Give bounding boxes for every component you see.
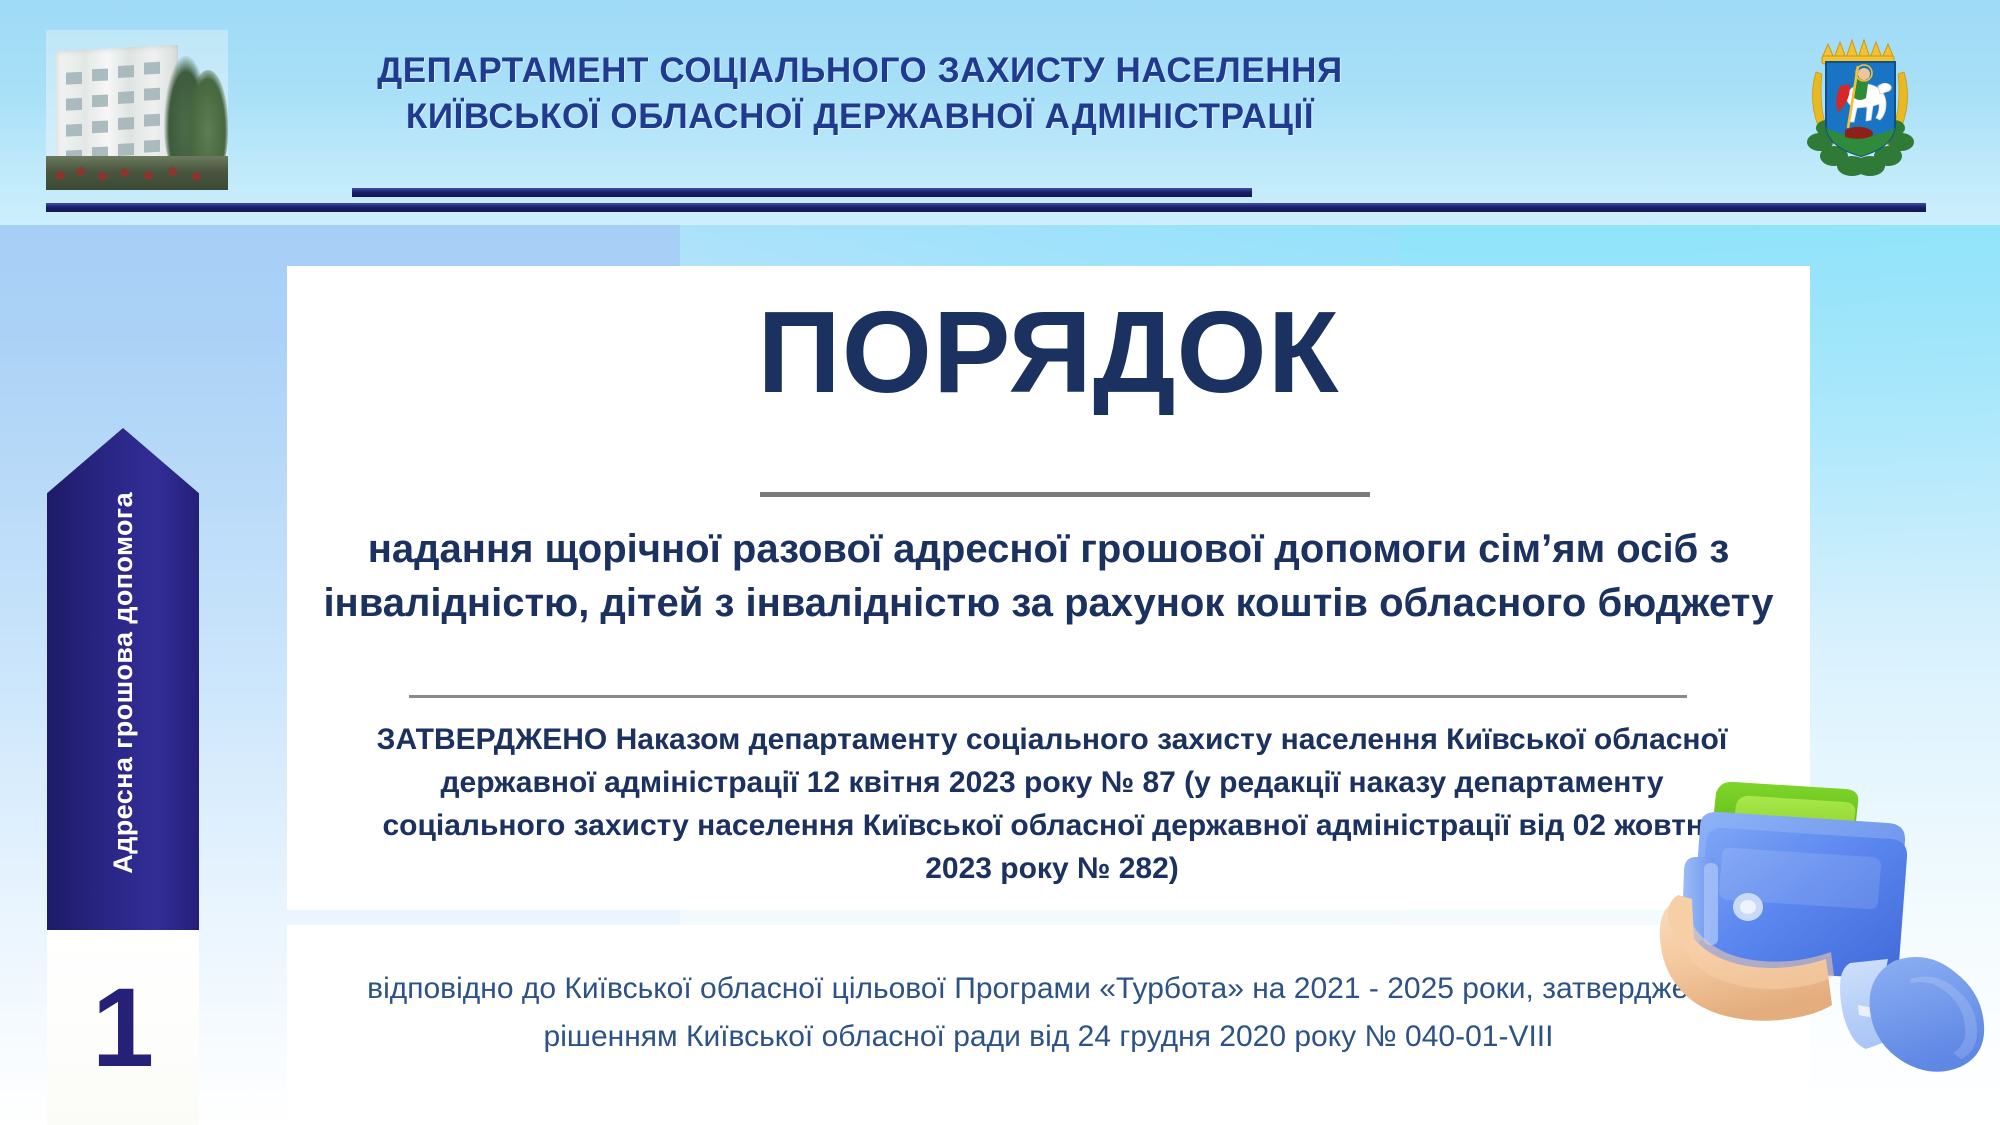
- subtitle-divider: [409, 695, 1687, 698]
- program-reference-text: відповідно до Київської обласної цільово…: [327, 965, 1770, 1061]
- presentation-slide: ДЕПАРТАМЕНТ СОЦІАЛЬНОГО ЗАХИСТУ НАСЕЛЕНН…: [0, 0, 2000, 1125]
- main-content-card: ПОРЯДОК надання щорічної разової адресно…: [287, 266, 1810, 910]
- organization-title: ДЕПАРТАМЕНТ СОЦІАЛЬНОГО ЗАХИСТУ НАСЕЛЕНН…: [330, 48, 1390, 140]
- header-divider-long: [46, 203, 1926, 212]
- sidebar-tab-label: Адресна грошова допомога: [108, 484, 139, 874]
- page-subtitle: надання щорічної разової адресної грошов…: [307, 522, 1790, 630]
- header-banner: ДЕПАРТАМЕНТ СОЦІАЛЬНОГО ЗАХИСТУ НАСЕЛЕНН…: [0, 0, 2000, 225]
- program-reference-card: відповідно до Київської обласної цільово…: [287, 925, 1810, 1125]
- building-photo: [46, 30, 228, 190]
- organization-title-line-2: КИЇВСЬКОЇ ОБЛАСНОЇ ДЕРЖАВНОЇ АДМІНІСТРАЦ…: [330, 94, 1390, 140]
- slide-number: 1: [47, 930, 199, 1125]
- sidebar-tab-label-wrap: Адресна грошова допомога: [47, 428, 199, 930]
- organization-title-line-1: ДЕПАРТАМЕНТ СОЦІАЛЬНОГО ЗАХИСТУ НАСЕЛЕНН…: [330, 48, 1390, 94]
- title-divider: [760, 492, 1370, 497]
- header-divider-short: [352, 188, 1252, 197]
- page-title: ПОРЯДОК: [287, 292, 1810, 412]
- approval-note: ЗАТВЕРДЖЕНО Наказом департаменту соціаль…: [357, 718, 1747, 890]
- kyiv-oblast-coat-of-arms-icon: [1800, 24, 1920, 186]
